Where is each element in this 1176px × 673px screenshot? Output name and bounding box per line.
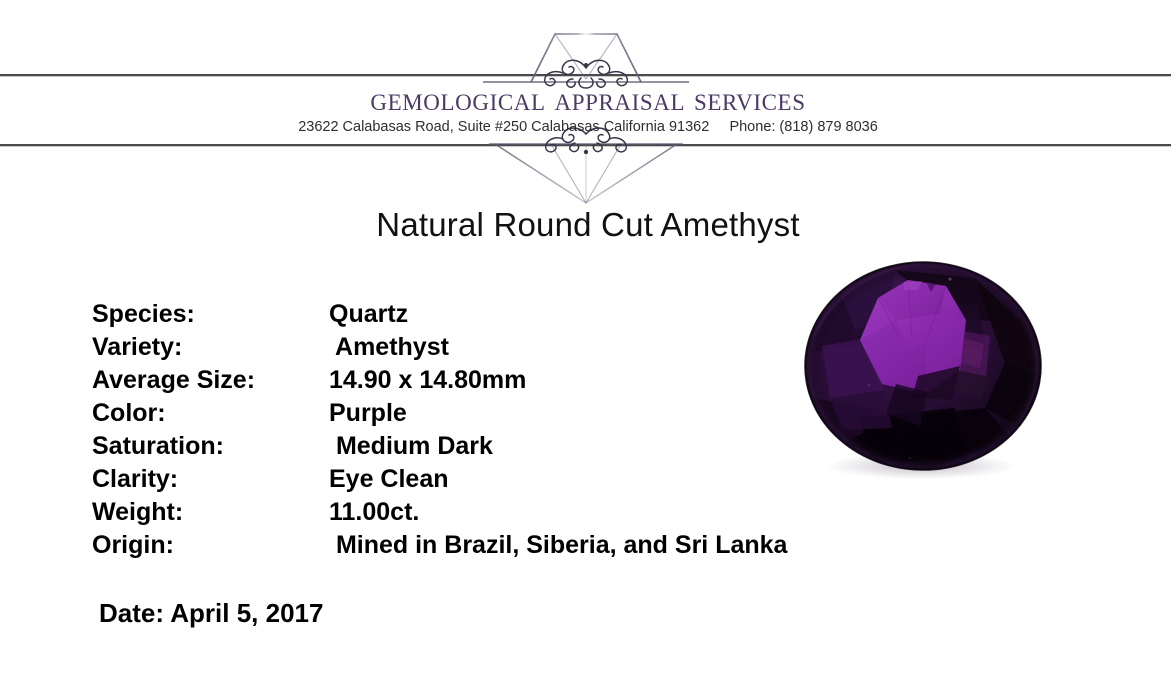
spec-value: 14.90 x 14.80mm — [329, 366, 526, 395]
appraisal-certificate: Gemological Appraisal Services 23622 Cal… — [0, 0, 1176, 673]
certificate-header: Gemological Appraisal Services 23622 Cal… — [0, 0, 1176, 205]
gemstone-photo — [800, 258, 1050, 498]
amethyst-round-brilliant-icon — [800, 258, 1050, 498]
spec-value: Eye Clean — [329, 465, 449, 494]
company-name: Gemological Appraisal Services — [0, 82, 1176, 119]
spec-label: Clarity: — [92, 465, 329, 494]
gem-specification-list: Species: Quartz Variety: Amethyst Averag… — [92, 300, 892, 564]
spec-row-clarity: Clarity: Eye Clean — [92, 465, 892, 498]
spec-value: Quartz — [329, 300, 408, 329]
spec-label: Color: — [92, 399, 329, 428]
spec-value: Purple — [329, 399, 407, 428]
spec-row-variety: Variety: Amethyst — [92, 333, 892, 366]
spec-label: Average Size: — [92, 366, 329, 395]
spec-value: Amethyst — [329, 333, 449, 362]
spec-value: Mined in Brazil, Siberia, and Sri Lanka — [329, 531, 787, 560]
spec-row-species: Species: Quartz — [92, 300, 892, 333]
spec-label: Species: — [92, 300, 329, 329]
company-address: 23622 Calabasas Road, Suite #250 Calabas… — [0, 119, 1176, 135]
appraisal-date: Date: April 5, 2017 — [99, 598, 323, 629]
page-title: Natural Round Cut Amethyst — [0, 206, 1176, 244]
spec-row-weight: Weight: 11.00ct. — [92, 498, 892, 531]
spec-value: 11.00ct. — [329, 498, 419, 527]
spec-row-color: Color: Purple — [92, 399, 892, 432]
spec-row-average-size: Average Size: 14.90 x 14.80mm — [92, 366, 892, 399]
spec-label: Saturation: — [92, 432, 329, 461]
spec-row-origin: Origin: Mined in Brazil, Siberia, and Sr… — [92, 531, 892, 564]
spec-label: Variety: — [92, 333, 329, 362]
spec-label: Weight: — [92, 498, 329, 527]
spec-row-saturation: Saturation: Medium Dark — [92, 432, 892, 465]
spec-label: Origin: — [92, 531, 329, 560]
spec-value: Medium Dark — [329, 432, 493, 461]
